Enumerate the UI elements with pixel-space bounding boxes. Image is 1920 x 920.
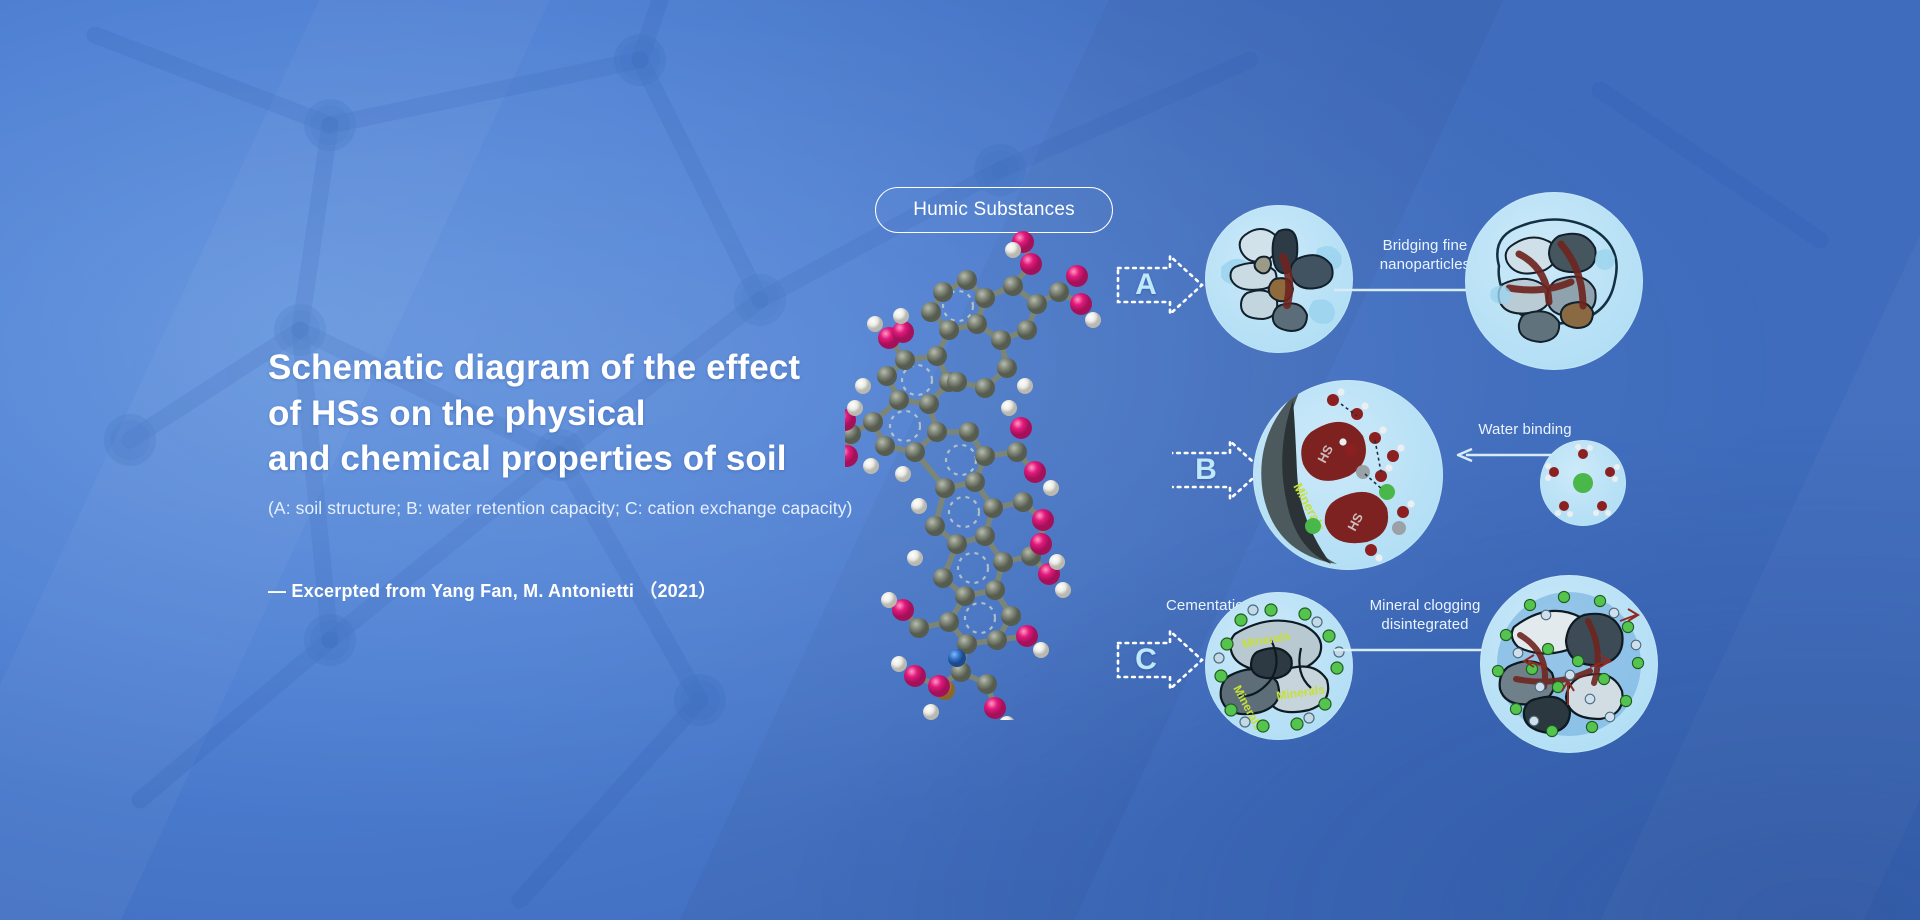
poster-canvas: Schematic diagram of the effect of HSs o… bbox=[0, 0, 1920, 920]
branch-letter-a: A bbox=[1112, 250, 1180, 320]
hs-mineral-water-illustration: HS HS Minerals bbox=[1253, 380, 1443, 570]
disintegrated-minerals-illustration bbox=[1480, 575, 1658, 753]
headline-block: Schematic diagram of the effect of HSs o… bbox=[268, 345, 908, 603]
branch-arrow-a: A bbox=[1112, 250, 1208, 320]
process-label-water-binding: Water binding bbox=[1450, 420, 1600, 439]
title-line-2: of HSs on the physical bbox=[268, 391, 908, 437]
humic-substances-label-text: Humic Substances bbox=[913, 199, 1075, 221]
page-title: Schematic diagram of the effect of HSs o… bbox=[268, 345, 908, 482]
panel-humic-substance-mineral-water: HS HS Minerals bbox=[1253, 380, 1443, 570]
branch-arrow-c: C bbox=[1112, 625, 1208, 695]
title-line-1: Schematic diagram of the effect bbox=[268, 345, 908, 391]
branch-letter-c: C bbox=[1112, 625, 1180, 695]
bridged-soil-aggregate-illustration bbox=[1465, 192, 1643, 370]
water-cluster-illustration bbox=[1540, 440, 1626, 526]
page-subtitle: (A: soil structure; B: water retention c… bbox=[268, 498, 908, 519]
panel-soil-aggregate-bridged bbox=[1465, 192, 1643, 370]
branch-letter-b: B bbox=[1172, 435, 1240, 505]
panel-minerals-disintegrated bbox=[1480, 575, 1658, 753]
title-line-3: and chemical properties of soil bbox=[268, 436, 908, 482]
panel-water-molecules-cluster bbox=[1540, 440, 1626, 526]
source-attribution: — Excerpted from Yang Fan, M. Antonietti… bbox=[268, 577, 908, 603]
